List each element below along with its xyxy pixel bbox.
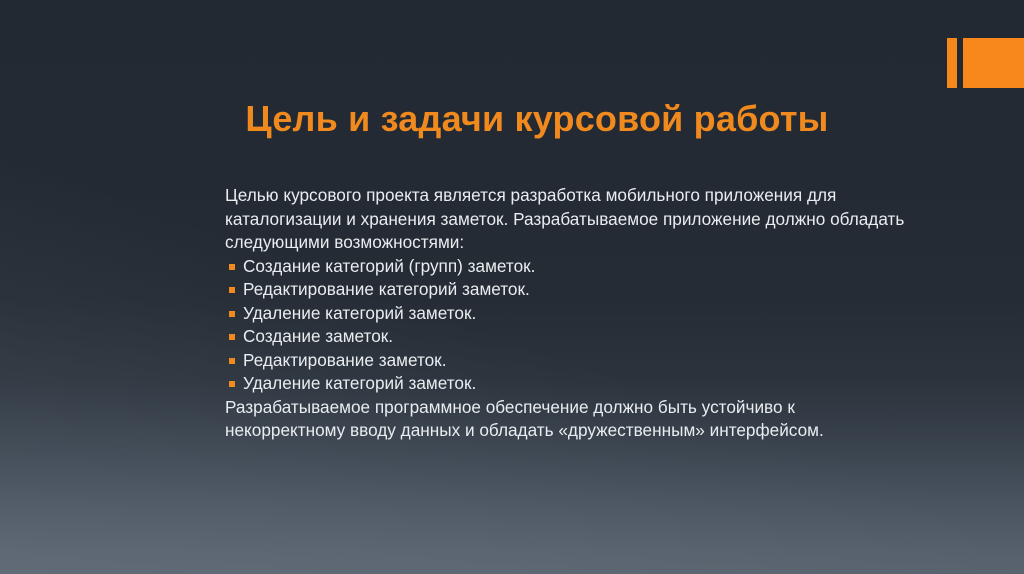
square-bullet-icon: [229, 381, 235, 387]
corner-decoration: [947, 38, 1024, 88]
list-item: Редактирование заметок.: [225, 349, 915, 373]
square-bullet-icon: [229, 334, 235, 340]
outro-paragraph: Разрабатываемое программное обеспечение …: [225, 396, 915, 443]
list-item: Создание категорий (групп) заметок.: [225, 255, 915, 279]
list-item-label: Удаление категорий заметок.: [243, 303, 476, 323]
square-bullet-icon: [229, 287, 235, 293]
list-item: Редактирование категорий заметок.: [225, 278, 915, 302]
orange-block-accent-icon: [963, 38, 1024, 88]
square-bullet-icon: [229, 311, 235, 317]
requirements-list: Создание категорий (групп) заметок. Реда…: [225, 255, 915, 396]
list-item-label: Редактирование категорий заметок.: [243, 279, 530, 299]
page-title: Цель и задачи курсовой работы: [0, 98, 1024, 140]
square-bullet-icon: [229, 264, 235, 270]
list-item: Удаление категорий заметок.: [225, 302, 915, 326]
list-item: Удаление категорий заметок.: [225, 372, 915, 396]
list-item: Создание заметок.: [225, 325, 915, 349]
slide-body: Целью курсового проекта является разрабо…: [225, 184, 915, 443]
square-bullet-icon: [229, 358, 235, 364]
list-item-label: Удаление категорий заметок.: [243, 373, 476, 393]
list-item-label: Создание категорий (групп) заметок.: [243, 256, 535, 276]
list-item-label: Редактирование заметок.: [243, 350, 446, 370]
intro-paragraph: Целью курсового проекта является разрабо…: [225, 184, 915, 255]
slide-content: Цель и задачи курсовой работы Целью курс…: [0, 0, 1024, 574]
presentation-slide: Цель и задачи курсовой работы Целью курс…: [0, 0, 1024, 574]
orange-bar-accent-icon: [947, 38, 957, 88]
list-item-label: Создание заметок.: [243, 326, 393, 346]
